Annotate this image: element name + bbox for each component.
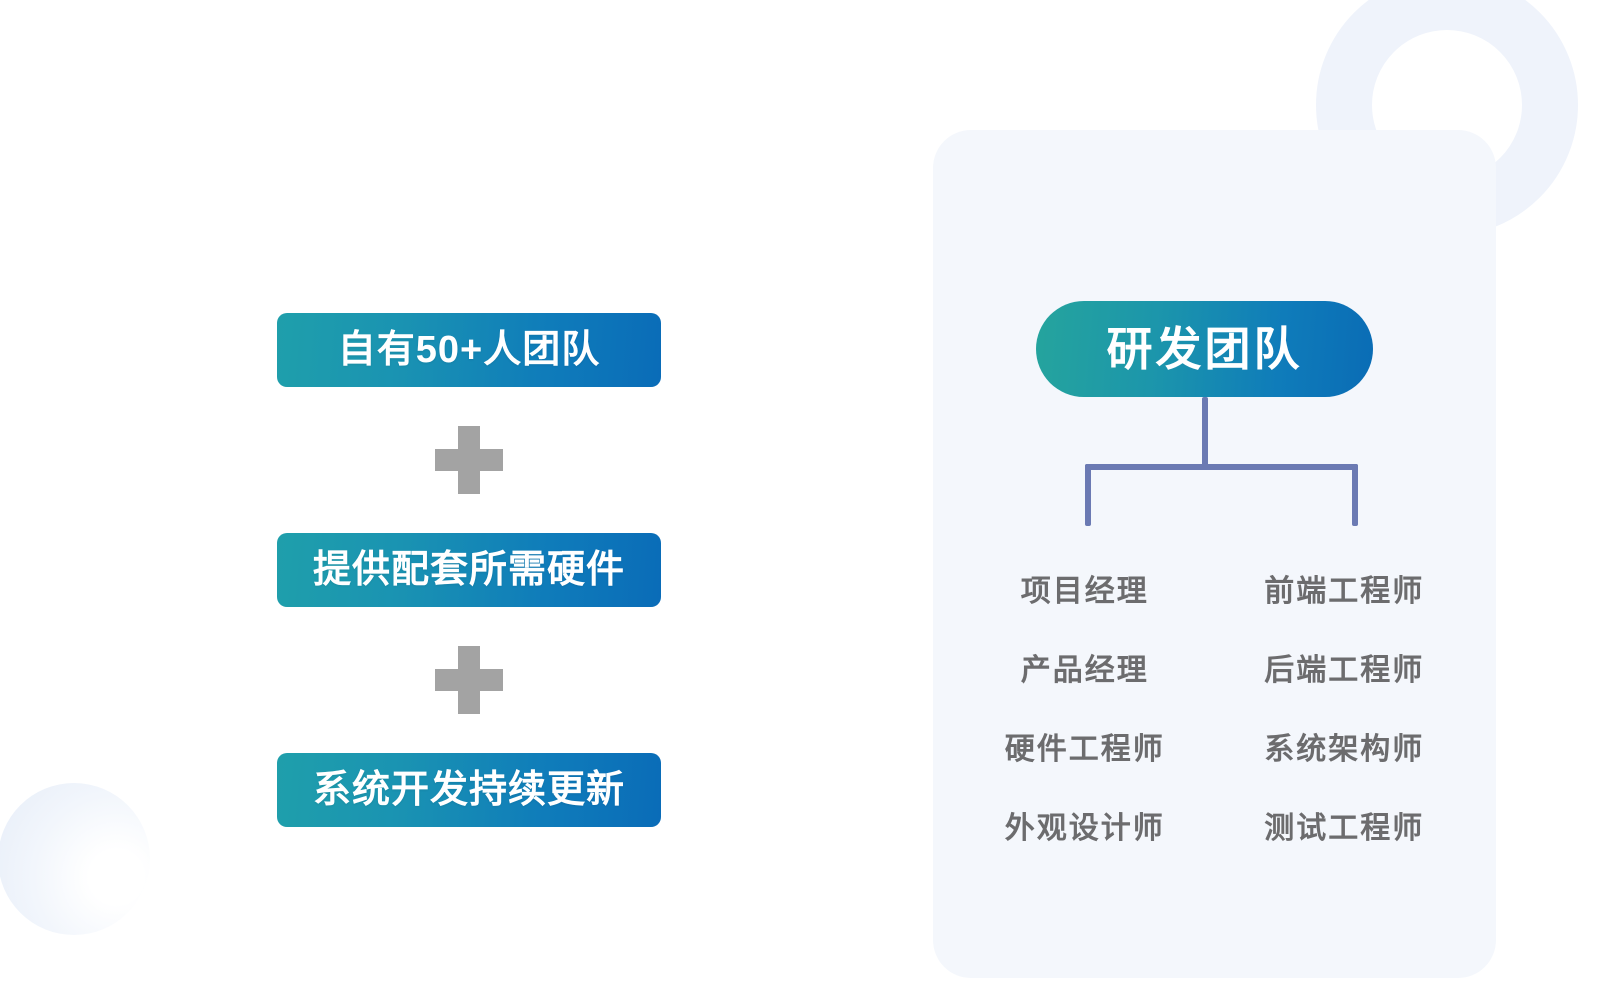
plus-separator-2 bbox=[277, 607, 661, 753]
connector-stem bbox=[1202, 397, 1208, 469]
capability-card-team-label: 自有50+人团队 bbox=[338, 331, 600, 369]
plus-icon bbox=[435, 646, 503, 714]
capability-card-hardware-label: 提供配套所需硬件 bbox=[313, 551, 625, 589]
team-structure-panel: 研发团队 项目经理 前端工程师 产品经理 后端工程师 硬件工程师 系统架构师 外… bbox=[933, 130, 1496, 978]
role-item: 后端工程师 bbox=[1215, 627, 1475, 706]
connector-leg-right bbox=[1352, 464, 1358, 526]
connector-horizontal bbox=[1085, 464, 1358, 470]
diagram-canvas: 自有50+人团队 提供配套所需硬件 系统开发持续更新 研发团队 项 bbox=[0, 0, 1602, 982]
plus-separator-1 bbox=[277, 387, 661, 533]
role-item: 项目经理 bbox=[955, 548, 1215, 627]
circle-bottom-left-decoration-icon bbox=[0, 783, 150, 935]
capability-card-updates-label: 系统开发持续更新 bbox=[313, 771, 625, 809]
role-item: 前端工程师 bbox=[1215, 548, 1475, 627]
capability-card-updates[interactable]: 系统开发持续更新 bbox=[277, 753, 661, 827]
connector-leg-left bbox=[1085, 464, 1091, 526]
role-item: 产品经理 bbox=[955, 627, 1215, 706]
capability-card-team[interactable]: 自有50+人团队 bbox=[277, 313, 661, 387]
plus-icon bbox=[435, 426, 503, 494]
team-root-node[interactable]: 研发团队 bbox=[1036, 301, 1373, 397]
role-grid: 项目经理 前端工程师 产品经理 后端工程师 硬件工程师 系统架构师 外观设计师 … bbox=[955, 548, 1474, 864]
capability-stack: 自有50+人团队 提供配套所需硬件 系统开发持续更新 bbox=[277, 313, 661, 827]
role-item: 系统架构师 bbox=[1215, 706, 1475, 785]
role-item: 硬件工程师 bbox=[955, 706, 1215, 785]
role-item: 外观设计师 bbox=[955, 785, 1215, 864]
team-root-node-label: 研发团队 bbox=[1107, 326, 1303, 372]
role-item: 测试工程师 bbox=[1215, 785, 1475, 864]
capability-card-hardware[interactable]: 提供配套所需硬件 bbox=[277, 533, 661, 607]
